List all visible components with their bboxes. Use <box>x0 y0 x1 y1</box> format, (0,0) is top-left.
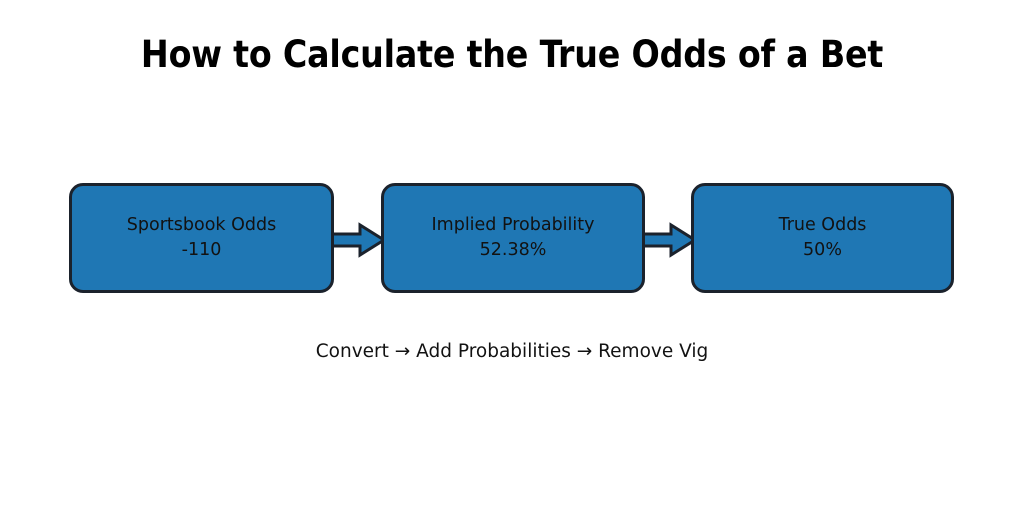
flow-step-sportsbook-odds: Sportsbook Odds -110 <box>69 183 334 293</box>
flow-step-value: -110 <box>182 238 222 263</box>
diagram-canvas: How to Calculate the True Odds of a Bet … <box>0 0 1024 520</box>
page-title: How to Calculate the True Odds of a Bet <box>0 32 1024 78</box>
flow-step-implied-probability: Implied Probability 52.38% <box>381 183 645 293</box>
flow-step-label: Sportsbook Odds <box>127 213 276 238</box>
flow-step-value: 52.38% <box>480 238 547 263</box>
flow-step-label: True Odds <box>779 213 867 238</box>
flow-step-value: 50% <box>803 238 842 263</box>
process-caption: Convert → Add Probabilities → Remove Vig <box>0 338 1024 365</box>
flow-step-label: Implied Probability <box>432 213 595 238</box>
flow-step-true-odds: True Odds 50% <box>691 183 954 293</box>
